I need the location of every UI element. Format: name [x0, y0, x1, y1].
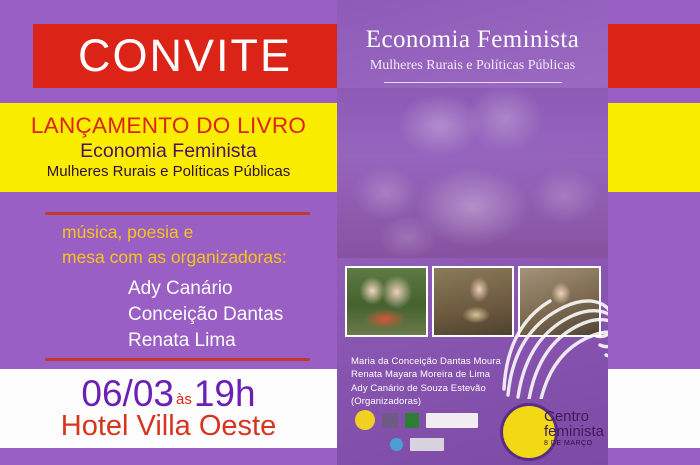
cafes-logo-icon — [355, 435, 383, 454]
green-square-logo-icon — [405, 413, 419, 428]
blue-circle-logo-icon — [390, 438, 403, 451]
speaker-name: Renata Lima — [0, 328, 337, 354]
launch-label: LANÇAMENTO DO LIVRO — [31, 113, 306, 138]
cover-subtitle: Mulheres Rurais e Políticas Públicas — [337, 57, 608, 75]
divider-top — [45, 212, 310, 215]
emblem-line-1: Centro — [544, 409, 604, 424]
date-time-line: 06/03 às 19h — [81, 375, 255, 412]
speaker-name: Ady Canário — [0, 276, 337, 302]
emblem-line-2: feminista — [544, 424, 604, 439]
cover-title: Economia Feminista — [337, 26, 608, 54]
partner-small-logo-icon — [382, 413, 398, 428]
cover-background-photo — [337, 88, 608, 258]
event-details-block: 06/03 às 19h Hotel Villa Oeste — [0, 369, 337, 448]
event-time: 19h — [194, 375, 256, 412]
program-line-2: mesa com as organizadoras: — [0, 245, 337, 270]
centro-feminista-emblem: Centro feminista 8 DE MARÇO — [492, 395, 600, 461]
event-date: 06/03 — [81, 375, 174, 412]
time-connector: às — [174, 392, 194, 407]
emblem-text-block: Centro feminista 8 DE MARÇO — [544, 409, 604, 447]
book-cover-image: Economia Feminista Mulheres Rurais e Pol… — [337, 0, 608, 465]
program-section: música, poesia e mesa com as organizador… — [0, 220, 337, 354]
book-subtitle: Mulheres Rurais e Políticas Públicas — [47, 163, 290, 182]
invitation-heading: CONVITE — [33, 24, 337, 88]
event-invitation-poster: CONVITE LANÇAMENTO DO LIVRO Economia Fem… — [0, 0, 700, 465]
launch-announcement-block: LANÇAMENTO DO LIVRO Economia Feminista M… — [0, 103, 337, 192]
decorative-swirl-graphic — [502, 249, 608, 399]
book-title: Economia Feminista — [80, 139, 257, 163]
speaker-list: Ady Canário Conceição Dantas Renata Lima — [0, 276, 337, 355]
cover-title-block: Economia Feminista Mulheres Rurais e Pol… — [337, 26, 608, 83]
speaker-name: Conceição Dantas — [0, 302, 337, 328]
cooperative-seal-logo-icon — [355, 410, 375, 430]
divider-bottom — [45, 358, 310, 361]
cover-title-underline — [384, 82, 562, 83]
program-line-1: música, poesia e — [0, 220, 337, 245]
emblem-line-3: 8 DE MARÇO — [544, 440, 604, 447]
cover-photo-1 — [345, 266, 428, 337]
mda-logo-icon — [410, 438, 444, 451]
partner-white-logo-icon — [426, 413, 478, 428]
event-venue: Hotel Villa Oeste — [61, 411, 276, 441]
